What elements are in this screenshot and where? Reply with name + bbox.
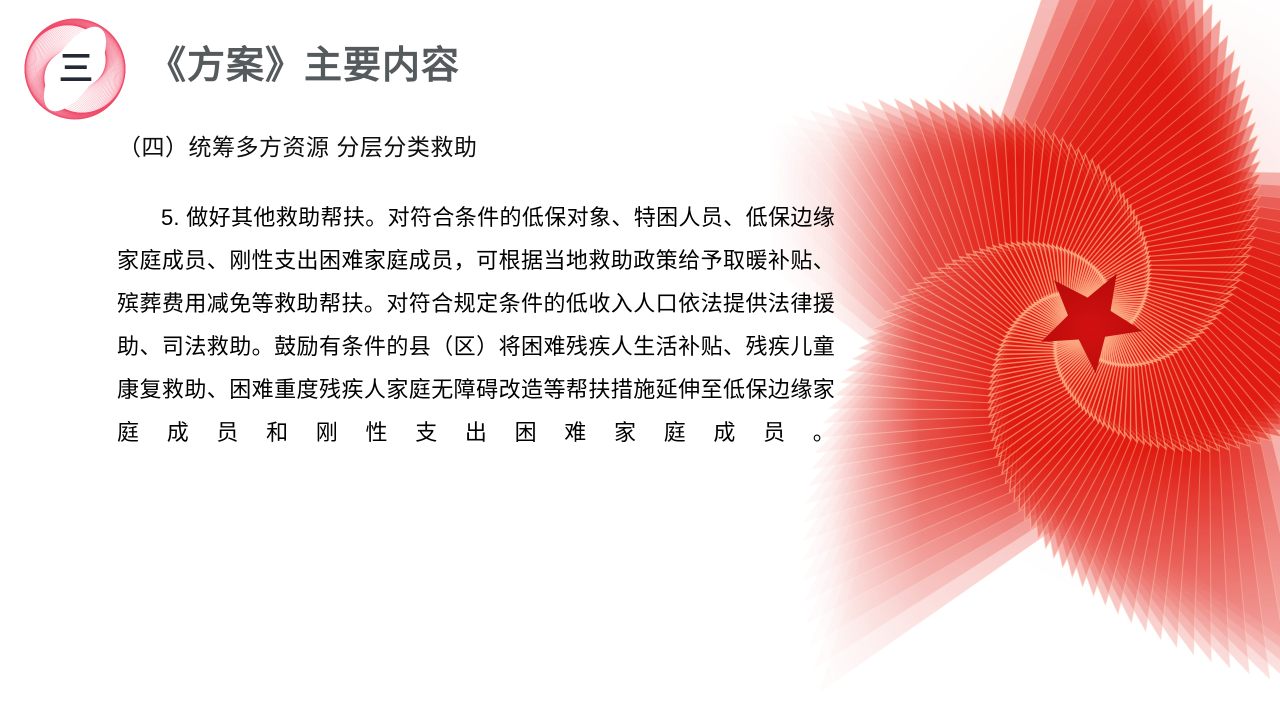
page-title: 《方案》主要内容	[148, 34, 460, 89]
slide-header: 三 《方案》主要内容	[0, 0, 860, 120]
section-number-label: 三	[22, 16, 128, 122]
star-glow	[800, 0, 1280, 720]
slide-canvas: 三 《方案》主要内容 （四）统筹多方资源 分层分类救助 5. 做好其他救助帮扶。…	[0, 0, 1280, 720]
section-subtitle: （四）统筹多方资源 分层分类救助	[118, 128, 477, 162]
body-paragraph: 5. 做好其他救助帮扶。对符合条件的低保对象、特困人员、低保边缘家庭成员、刚性支…	[117, 196, 835, 497]
